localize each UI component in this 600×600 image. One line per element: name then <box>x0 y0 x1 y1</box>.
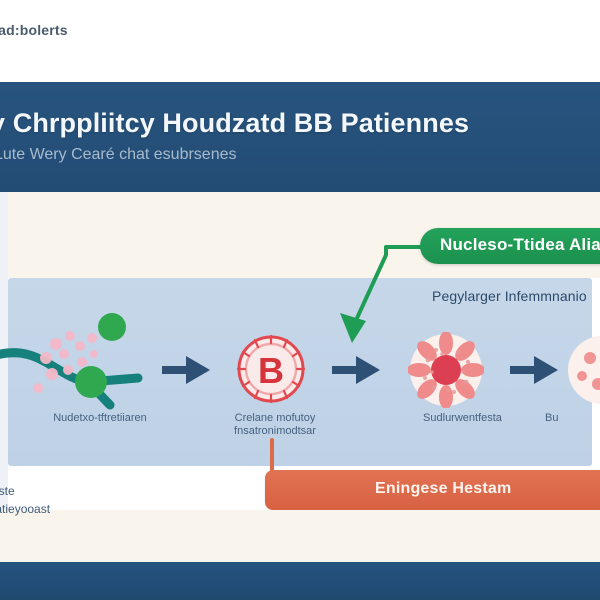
virus-particle-b-icon: B <box>235 333 307 405</box>
footer-band <box>0 562 600 600</box>
burst-cell-icon <box>408 332 484 408</box>
breadcrumb[interactable]: /ad:bolerts <box>0 22 68 38</box>
slide-canvas: /ad:bolerts y Chrppliitcy Houdzatd BB Pa… <box>0 0 600 600</box>
flow-arrow-icon <box>160 352 212 388</box>
orange-connector-stem <box>270 438 274 474</box>
stage-caption-4: Bu <box>545 412 600 425</box>
header-band: y Chrppliitcy Houdzatd BB Patiennes Lute… <box>0 82 600 192</box>
flow-arrow-icon <box>330 352 382 388</box>
flow-arrow-icon <box>508 352 560 388</box>
orange-banner-label: Eningese Hestam <box>375 480 511 498</box>
bottom-left-text-block: lterste hpatieyooast be <box>0 482 212 536</box>
cell-icon-clipped <box>566 334 600 406</box>
stage-caption-2-line1: Crelane mofutoy <box>205 412 345 425</box>
stage-caption-1: Nudetxo-tftretiiaren <box>20 412 180 425</box>
top-bar: /ad:bolerts <box>0 0 600 82</box>
stage-caption-3: Sudlurwentfesta <box>390 412 535 425</box>
callout-pill[interactable]: Nucleso-Ttidea Alia. <box>420 228 600 264</box>
diagram-note: Pegylarger Infemmnanio <box>432 288 587 304</box>
page-subtitle: Lute Wery Cearé chat esubrsenes <box>0 146 237 164</box>
orange-banner[interactable]: Eningese Hestam <box>265 470 600 510</box>
bottom-left-line-2: hpatieyooast <box>0 500 212 518</box>
stage-caption-2: Crelane mofutoy fnsatronimodtsar <box>205 412 345 438</box>
virus-letter: B <box>258 350 284 391</box>
page-title: y Chrppliitcy Houdzatd BB Patiennes <box>0 108 469 139</box>
stage-caption-2-line2: fnsatronimodtsar <box>205 425 345 438</box>
bottom-left-line-1: lterste <box>0 482 212 500</box>
bottom-left-line-3: be <box>0 518 212 536</box>
callout-pill-label: Nucleso-Ttidea Alia. <box>440 235 600 255</box>
